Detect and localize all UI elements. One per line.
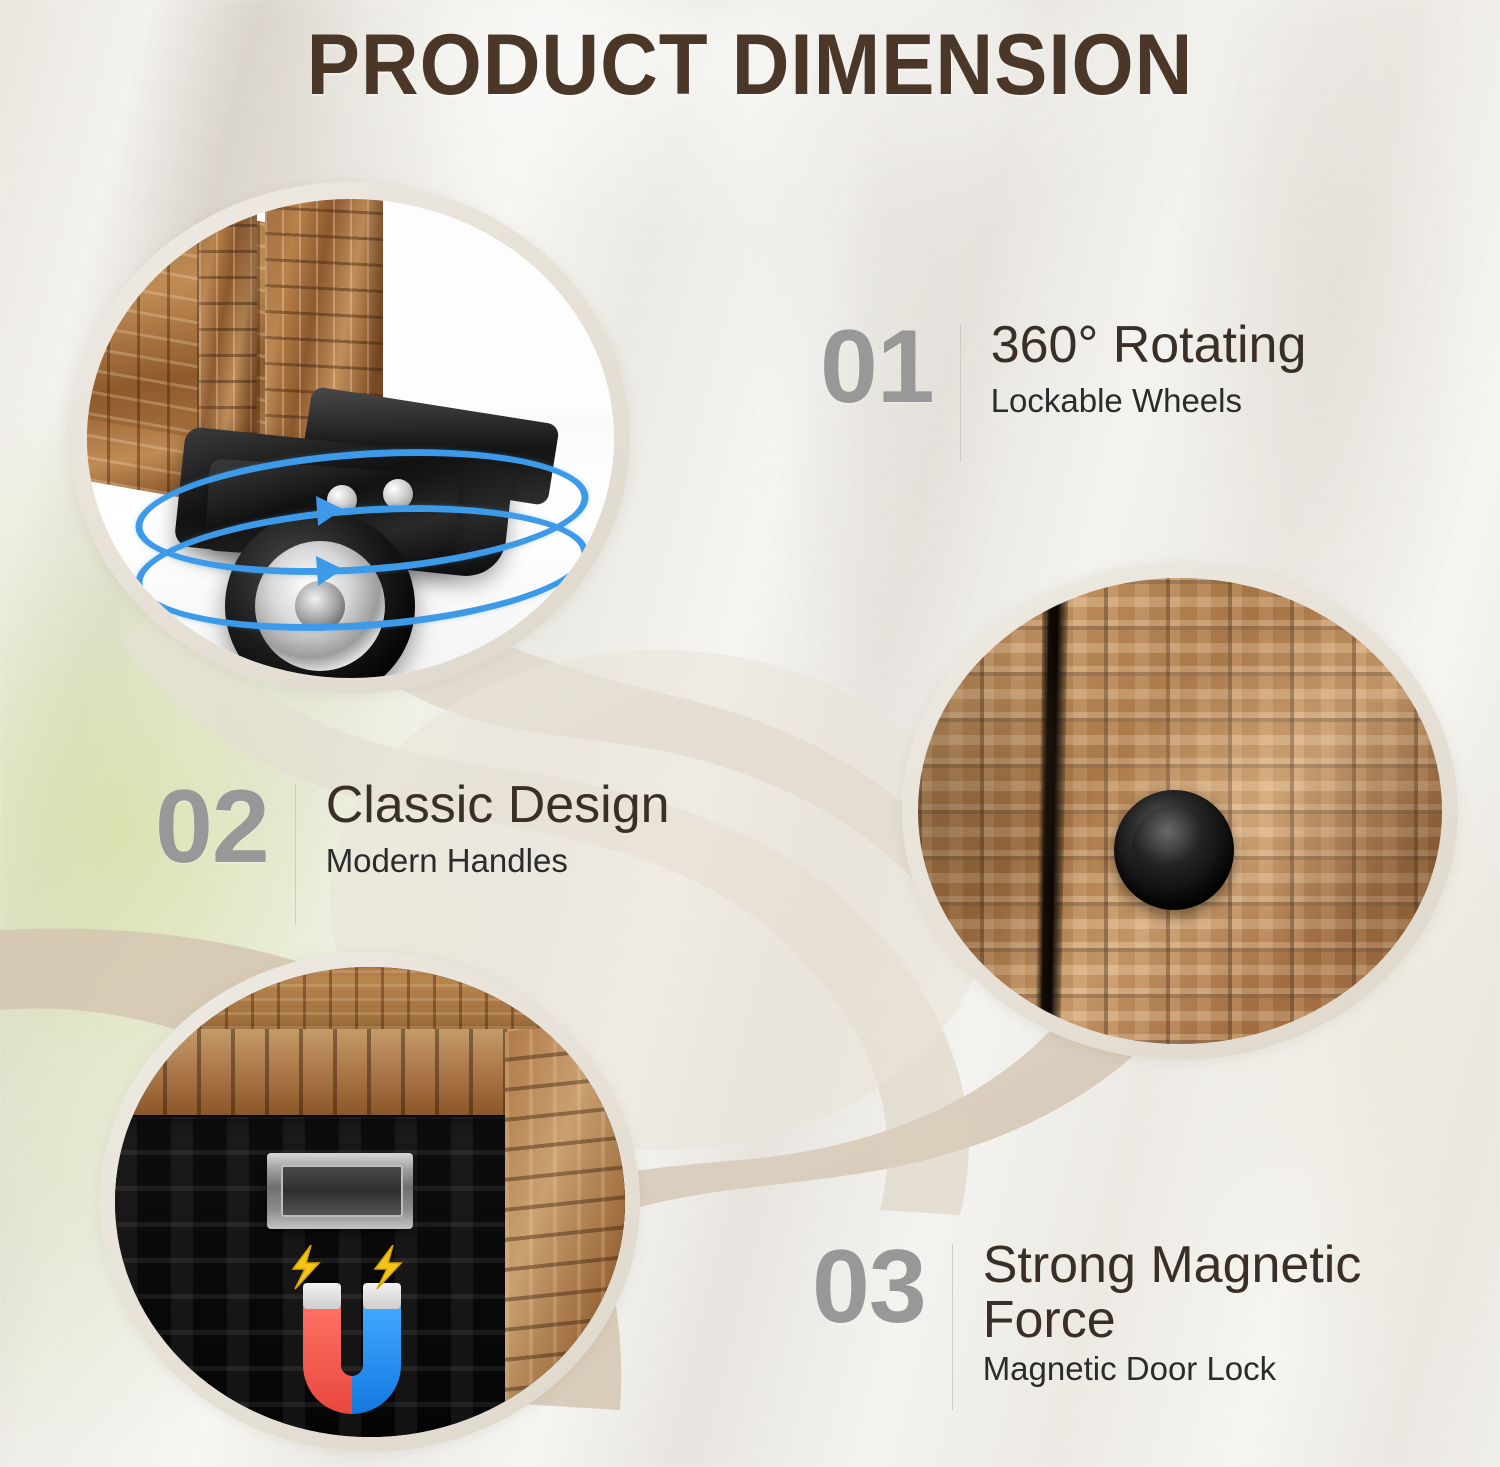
knob-handle-photo-circle — [902, 562, 1458, 1060]
feature-divider — [960, 324, 961, 462]
feature-number-03: 03 — [812, 1238, 926, 1337]
rotation-arrow-head — [316, 494, 344, 526]
feature-subtitle-01: Lockable Wheels — [991, 381, 1307, 421]
product-dimension-infographic: PRODUCT DIMENSION — [0, 0, 1500, 1467]
knob-handle-photo — [918, 578, 1442, 1044]
feature-subtitle-02: Modern Handles — [326, 841, 670, 881]
feature-heading-01: 360° Rotating — [991, 318, 1307, 373]
feature-heading-02: Classic Design — [326, 778, 670, 833]
feature-divider — [952, 1244, 953, 1410]
feature-number-02: 02 — [155, 778, 269, 877]
lightning-bolt-icon — [293, 1245, 319, 1289]
feature-block-01: 01 360° Rotating Lockable Wheels — [820, 318, 1306, 458]
magnetic-catch-inner — [281, 1165, 403, 1217]
lightning-bolt-icon — [375, 1245, 401, 1289]
rotation-arrow-head — [316, 554, 344, 586]
feature-heading-03: Strong Magnetic Force — [983, 1238, 1453, 1347]
feature-block-03: 03 Strong Magnetic Force Magnetic Door L… — [812, 1238, 1453, 1406]
horseshoe-magnet-icon — [277, 1245, 427, 1435]
caster-wheel-photo — [87, 199, 614, 678]
magnetic-lock-photo-circle — [100, 952, 640, 1452]
feature-number-01: 01 — [820, 318, 934, 417]
cabinet-side-panel — [505, 1018, 625, 1437]
feature-block-02: 02 Classic Design Modern Handles — [155, 778, 670, 920]
caster-wheel-photo-circle — [70, 182, 630, 694]
door-knob-highlight — [1132, 806, 1216, 890]
magnetic-lock-photo — [115, 967, 625, 1437]
feature-subtitle-03: Magnetic Door Lock — [983, 1349, 1453, 1389]
feature-divider — [295, 784, 296, 924]
page-title: PRODUCT DIMENSION — [53, 22, 1448, 108]
